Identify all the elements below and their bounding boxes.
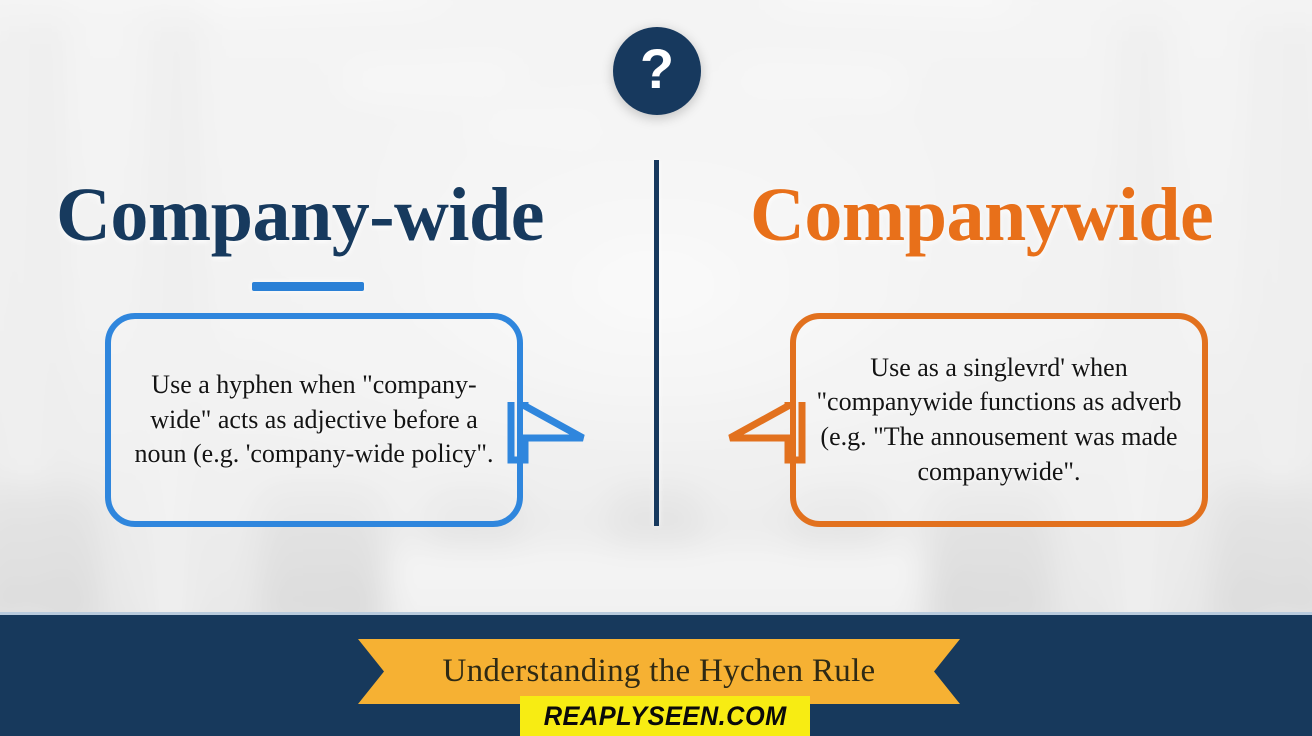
vertical-divider — [654, 160, 659, 526]
left-title: Company-wide — [56, 172, 544, 259]
left-speech-bubble: Use a hyphen when "company-wide" acts as… — [105, 313, 523, 527]
footer-ribbon-label: Understanding the Hychen Rule — [442, 653, 875, 690]
left-bubble-text: Use a hyphen when "company-wide" acts as… — [111, 368, 517, 472]
right-bubble-text: Use as a singlevrd' when "companywide fu… — [796, 351, 1202, 489]
question-mark-glyph: ? — [640, 41, 674, 97]
watermark-text: REAPLYSEEN.COM — [543, 701, 786, 732]
watermark-badge: REAPLYSEEN.COM — [520, 696, 810, 736]
right-title: Companywide — [750, 172, 1213, 259]
footer-ribbon: Understanding the Hychen Rule — [358, 639, 960, 704]
infographic-canvas: ? Company-wide Use a hyphen when "compan… — [0, 0, 1312, 736]
question-mark-icon: ? — [613, 27, 701, 115]
left-title-underline — [252, 282, 364, 291]
right-speech-bubble: Use as a singlevrd' when "companywide fu… — [790, 313, 1208, 527]
